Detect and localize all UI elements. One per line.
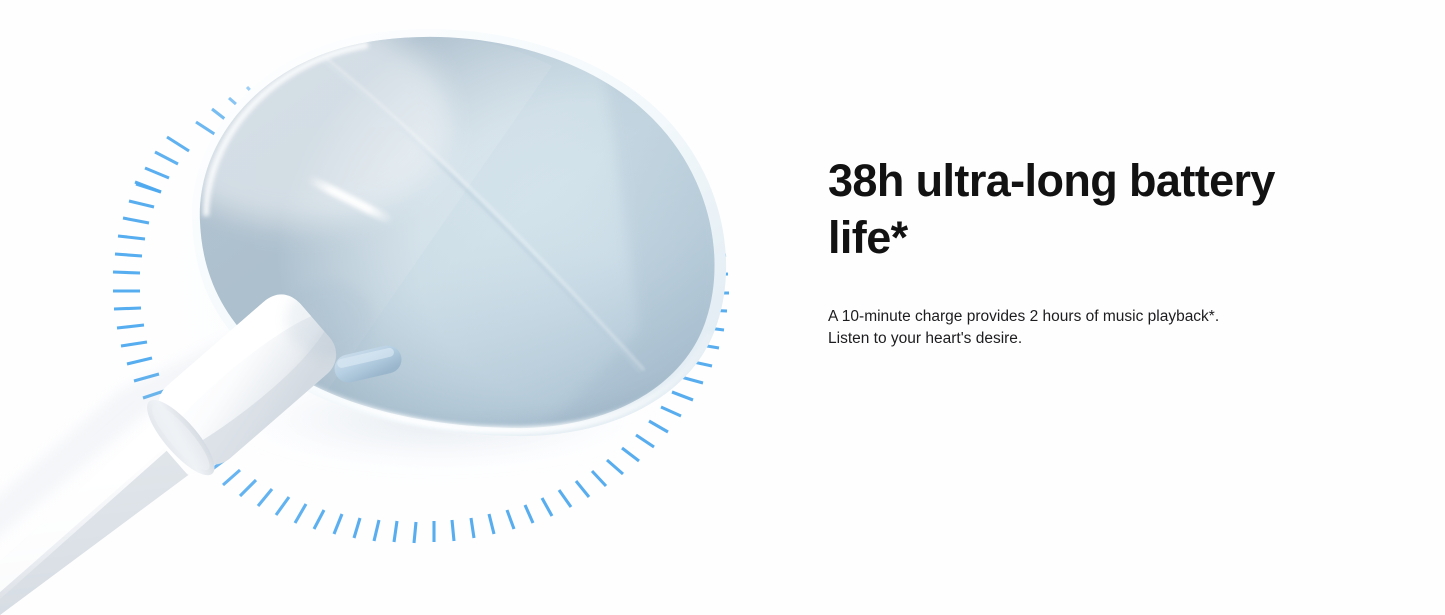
copy-block: 38h ultra-long battery life* A 10-minute… [828, 152, 1328, 350]
headline: 38h ultra-long battery life* [828, 152, 1288, 266]
port-contact-shadow [286, 282, 374, 358]
product-visual [0, 0, 810, 615]
subcopy-line-2: Listen to your heart's desire. [828, 328, 1258, 350]
subcopy: A 10-minute charge provides 2 hours of m… [828, 266, 1258, 350]
earbuds-case-illustration [0, 0, 810, 615]
subcopy-line-1: A 10-minute charge provides 2 hours of m… [828, 306, 1258, 328]
product-feature-banner: 38h ultra-long battery life* A 10-minute… [0, 0, 1445, 615]
